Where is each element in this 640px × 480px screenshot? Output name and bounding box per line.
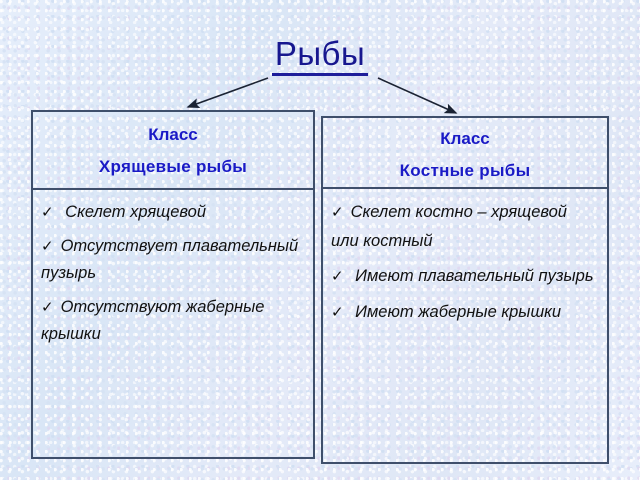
panel-bony-header-line1: Класс — [323, 123, 607, 155]
panel-cartilaginous-fishes: Класс Хрящевые рыбы ✓ Скелет хрящевой ✓О… — [31, 110, 315, 459]
list-item-label: Отсутствуют жаберные крышки — [41, 298, 264, 343]
list-item: ✓ Имеют жаберные крышки — [331, 298, 599, 327]
list-item: ✓ Имеют плавательный пузырь — [331, 262, 599, 291]
panel-cartilaginous-header: Класс Хрящевые рыбы — [33, 112, 313, 183]
list-item: ✓ Скелет хрящевой — [41, 199, 305, 226]
panel-bony-body: ✓Скелет костно – хрящевой или костный ✓ … — [323, 189, 607, 327]
panel-bony-header: Класс Костные рыбы — [323, 118, 607, 187]
check-icon: ✓ — [41, 299, 61, 316]
panel-cartilaginous-body: ✓ Скелет хрящевой ✓Отсутствует плаватель… — [33, 190, 313, 348]
panel-cartilaginous-header-line1: Класс — [33, 119, 313, 151]
list-item-label: Скелет костно – хрящевой или костный — [331, 203, 567, 250]
list-item: ✓Скелет костно – хрящевой или костный — [331, 198, 599, 255]
slide-canvas: Рыбы Класс Хрящевые рыбы ✓ Скелет хрящев… — [0, 0, 640, 480]
check-icon: ✓ — [41, 238, 61, 255]
check-icon: ✓ — [331, 204, 351, 221]
list-item: ✓Отсутствует плавательный пузырь — [41, 233, 305, 287]
list-item: ✓Отсутствуют жаберные крышки — [41, 294, 305, 348]
check-icon: ✓ — [331, 268, 351, 285]
arrow-to-cartilaginous — [188, 78, 268, 107]
list-item-label: Отсутствует плавательный пузырь — [41, 237, 298, 282]
list-item-label: Имеют плавательный пузырь — [351, 267, 594, 285]
panel-cartilaginous-header-line2: Хрящевые рыбы — [33, 151, 313, 183]
check-icon: ✓ — [331, 304, 351, 321]
list-item-label: Скелет хрящевой — [61, 203, 206, 221]
panel-bony-header-line2: Костные рыбы — [323, 155, 607, 187]
panel-bony-fishes: Класс Костные рыбы ✓Скелет костно – хрящ… — [321, 116, 609, 464]
list-item-label: Имеют жаберные крышки — [351, 303, 562, 321]
arrow-to-bony — [378, 78, 456, 113]
check-icon: ✓ — [41, 204, 61, 221]
